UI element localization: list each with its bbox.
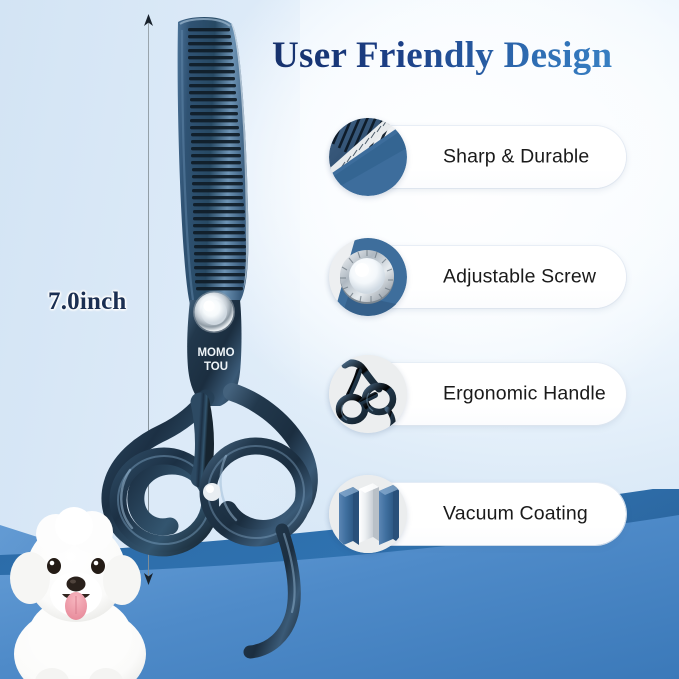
handle-right-ring (208, 392, 309, 652)
dog-eye-right (91, 558, 105, 574)
coated-blade-strips-icon (329, 475, 407, 553)
brand-line-2: TOU (204, 361, 228, 373)
dog-eye-left (47, 558, 61, 574)
scissor-handle-rings-icon (329, 355, 407, 433)
brand-line-1: MOMO (197, 347, 234, 359)
page-title: User Friendly Design (272, 36, 668, 77)
feature-card-sharp-durable[interactable]: Sharp & Durable (330, 126, 626, 188)
feature-card-ergonomic-handle[interactable]: Ergonomic Handle (330, 363, 626, 425)
feature-label: Adjustable Screw (443, 266, 596, 289)
feature-card-vacuum-coating[interactable]: Vacuum Coating (330, 483, 626, 545)
dog-nose (67, 577, 86, 592)
thinning-blade (178, 17, 252, 304)
bichon-frise-dog-photo (0, 496, 170, 679)
feature-label: Ergonomic Handle (443, 383, 606, 406)
feature-label: Vacuum Coating (443, 503, 588, 526)
tension-knob (203, 483, 221, 501)
serrated-blade-teeth-icon (329, 118, 407, 196)
pivot-screw (193, 291, 235, 333)
product-infographic: 7.0inch (0, 0, 679, 679)
feature-card-adjustable-screw[interactable]: Adjustable Screw (330, 246, 626, 308)
knurled-screw-icon (329, 238, 407, 316)
feature-label: Sharp & Durable (443, 146, 589, 169)
